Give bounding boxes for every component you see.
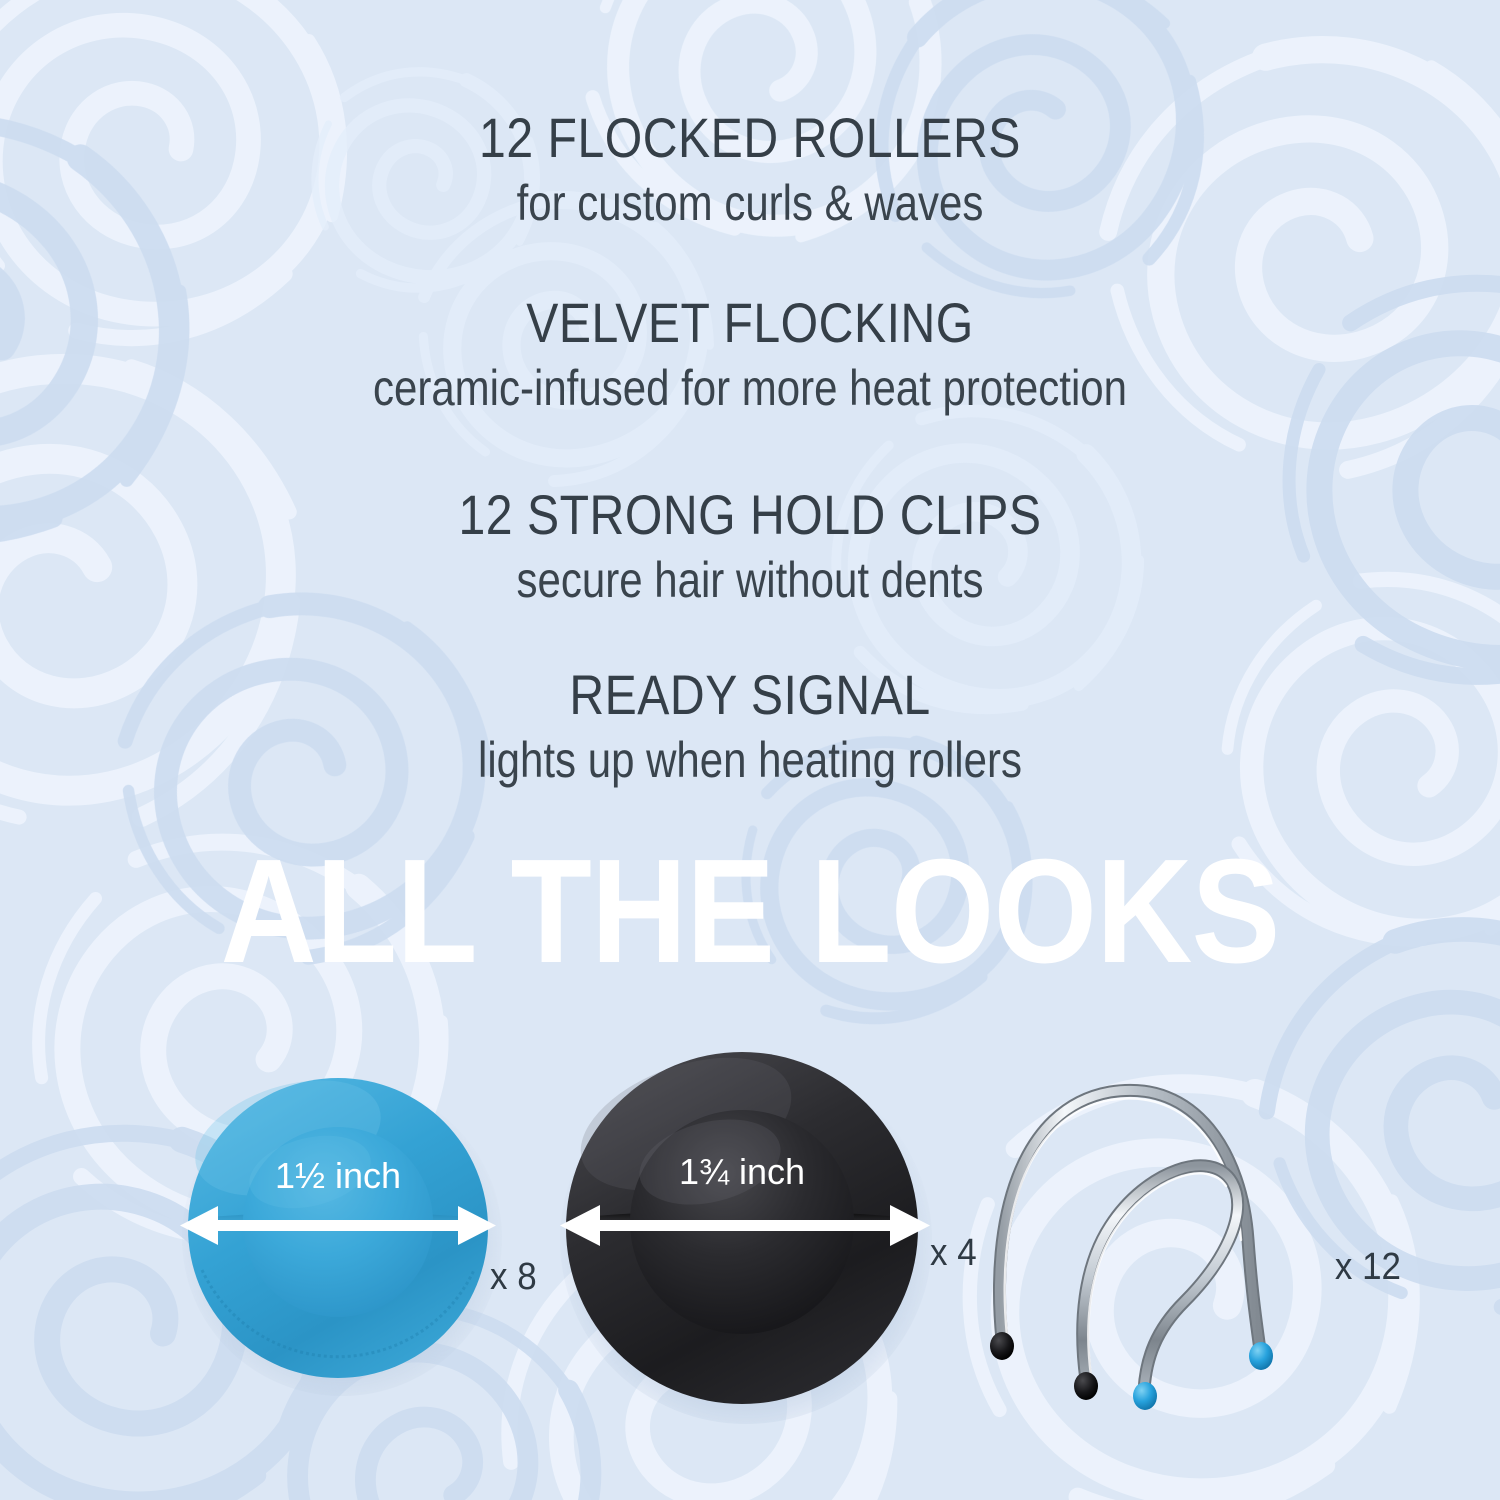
feature-subline: ceramic-infused for more heat protection: [120, 360, 1380, 416]
clip-tip-blue: [1249, 1342, 1273, 1370]
feature-item-velvet-flocking: VELVET FLOCKING ceramic-infused for more…: [0, 293, 1500, 416]
banner-headline: ALL THE LOOKS: [75, 838, 1425, 986]
feature-item-strong-hold-clips: 12 STRONG HOLD CLIPS secure hair without…: [0, 485, 1500, 608]
feature-item-flocked-rollers: 12 FLOCKED ROLLERS for custom curls & wa…: [0, 108, 1500, 231]
feature-subline: lights up when heating rollers: [120, 732, 1380, 788]
product-lineup: 1½ inch x 8: [0, 1030, 1500, 1450]
black-roller-dimension-label: 1¾ inch: [679, 1151, 805, 1192]
infographic-canvas: 12 FLOCKED ROLLERS for custom curls & wa…: [0, 0, 1500, 1500]
blue-roller-illustration: 1½ inch: [170, 1060, 510, 1400]
clip-tip-black: [1074, 1372, 1098, 1400]
clip-tip-blue: [1133, 1382, 1157, 1410]
clip-front: [1074, 1166, 1238, 1410]
feature-subline: for custom curls & waves: [120, 175, 1380, 231]
clip-tip-black: [990, 1332, 1014, 1360]
product-hair-clips: x 12: [960, 1050, 1360, 1415]
feature-subline: secure hair without dents: [120, 552, 1380, 608]
product-black-roller: 1¾ inch x 4: [548, 1036, 938, 1431]
blue-roller-quantity: x 8: [490, 1256, 537, 1299]
feature-headline: READY SIGNAL: [105, 665, 1395, 724]
feature-headline: 12 STRONG HOLD CLIPS: [105, 485, 1395, 544]
feature-headline: 12 FLOCKED ROLLERS: [105, 108, 1395, 167]
product-blue-roller: 1½ inch x 8: [170, 1060, 510, 1405]
feature-headline: VELVET FLOCKING: [105, 293, 1395, 352]
feature-item-ready-signal: READY SIGNAL lights up when heating roll…: [0, 665, 1500, 788]
blue-roller-dimension-label: 1½ inch: [275, 1155, 401, 1196]
hair-clips-quantity: x 12: [1335, 1246, 1401, 1289]
hair-clips-illustration: [960, 1050, 1360, 1410]
black-roller-illustration: 1¾ inch: [548, 1036, 938, 1426]
